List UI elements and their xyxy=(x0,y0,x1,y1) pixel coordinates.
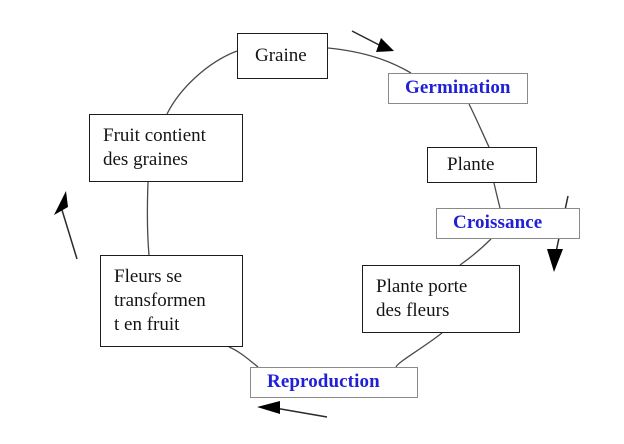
node-reproduction[interactable]: Reproduction xyxy=(250,367,418,398)
node-plante-label: Plante xyxy=(428,154,536,176)
node-plante[interactable]: Plante xyxy=(427,147,537,183)
connector-reproduction-fleurs xyxy=(229,347,258,367)
node-graine[interactable]: Graine xyxy=(237,33,328,79)
node-croissance-label: Croissance xyxy=(437,212,579,234)
node-reproduction-label: Reproduction xyxy=(251,371,417,393)
node-germination[interactable]: Germination xyxy=(388,73,528,104)
arrow-top-right-icon xyxy=(352,31,394,52)
connector-croissance-plante-porte xyxy=(460,239,491,265)
node-fruit-contient-des-graines-label: Fruit contient des graines xyxy=(90,124,242,172)
node-fleurs-se-transforment-en-fruit[interactable]: Fleurs se transformen t en fruit xyxy=(100,255,243,347)
connector-fruit-graine xyxy=(167,51,237,114)
connector-germination-plante xyxy=(469,104,489,147)
arrow-bottom-left-icon xyxy=(257,401,327,417)
node-croissance[interactable]: Croissance xyxy=(436,208,580,239)
node-plante-porte-des-fleurs[interactable]: Plante porte des fleurs xyxy=(362,265,520,333)
arrow-left-up-icon xyxy=(54,191,77,259)
node-plante-porte-des-fleurs-label: Plante porte des fleurs xyxy=(363,275,519,323)
connector-fleurs-fruit xyxy=(147,182,149,255)
node-graine-label: Graine xyxy=(238,45,327,67)
life-cycle-diagram: Graine Germination Plante Croissance Pla… xyxy=(0,0,624,444)
node-fleurs-se-transforment-en-fruit-label: Fleurs se transformen t en fruit xyxy=(101,265,242,338)
node-germination-label: Germination xyxy=(389,77,527,99)
connector-graine-germination xyxy=(328,48,411,73)
connector-plante-porte-reproduction xyxy=(396,333,442,367)
node-fruit-contient-des-graines[interactable]: Fruit contient des graines xyxy=(89,114,243,182)
connector-plante-croissance xyxy=(494,183,500,208)
